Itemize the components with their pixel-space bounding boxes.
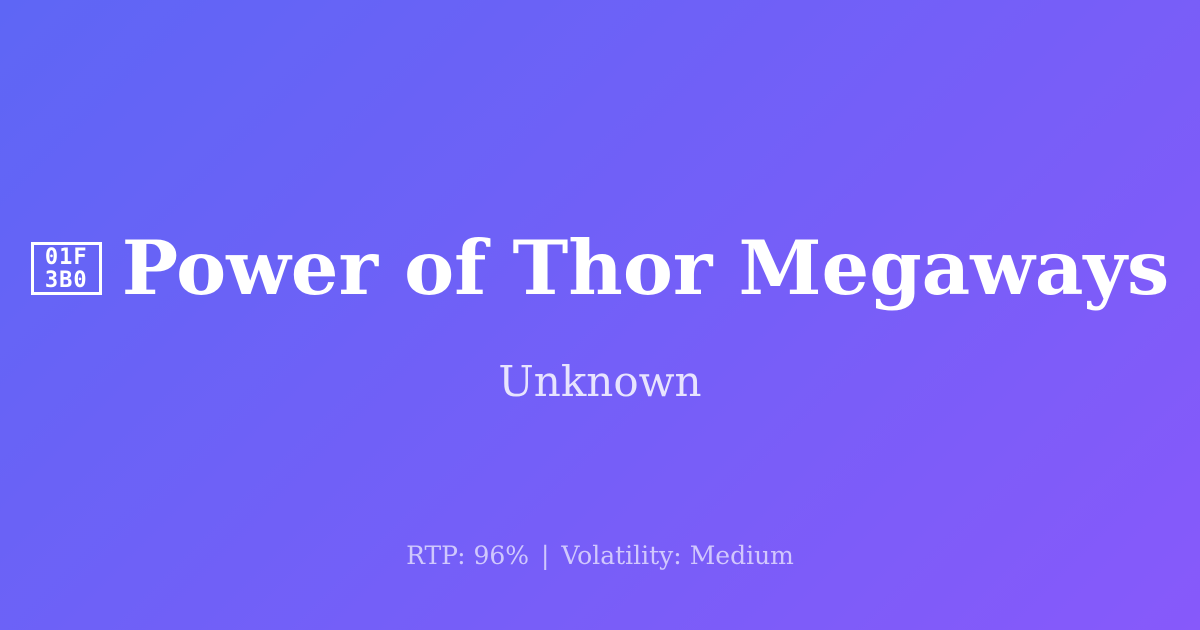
tofu-hex-top: 01F — [45, 246, 88, 269]
title-row: 01F 3B0 Power of Thor Megaways — [0, 231, 1200, 306]
page-title: Power of Thor Megaways — [122, 231, 1169, 306]
rtp-label: RTP: — [406, 541, 465, 570]
slot-machine-icon: 01F 3B0 — [31, 242, 102, 295]
stats-separator: | — [537, 541, 553, 570]
og-share-card: 01F 3B0 Power of Thor Megaways Unknown R… — [0, 0, 1200, 630]
volatility-value: Medium — [690, 541, 794, 570]
volatility-label: Volatility: — [561, 541, 681, 570]
rtp-value: 96% — [473, 541, 529, 570]
provider-label: Unknown — [0, 361, 1200, 403]
tofu-hex-bottom: 3B0 — [45, 269, 88, 292]
game-stats: RTP: 96% | Volatility: Medium — [0, 543, 1200, 568]
